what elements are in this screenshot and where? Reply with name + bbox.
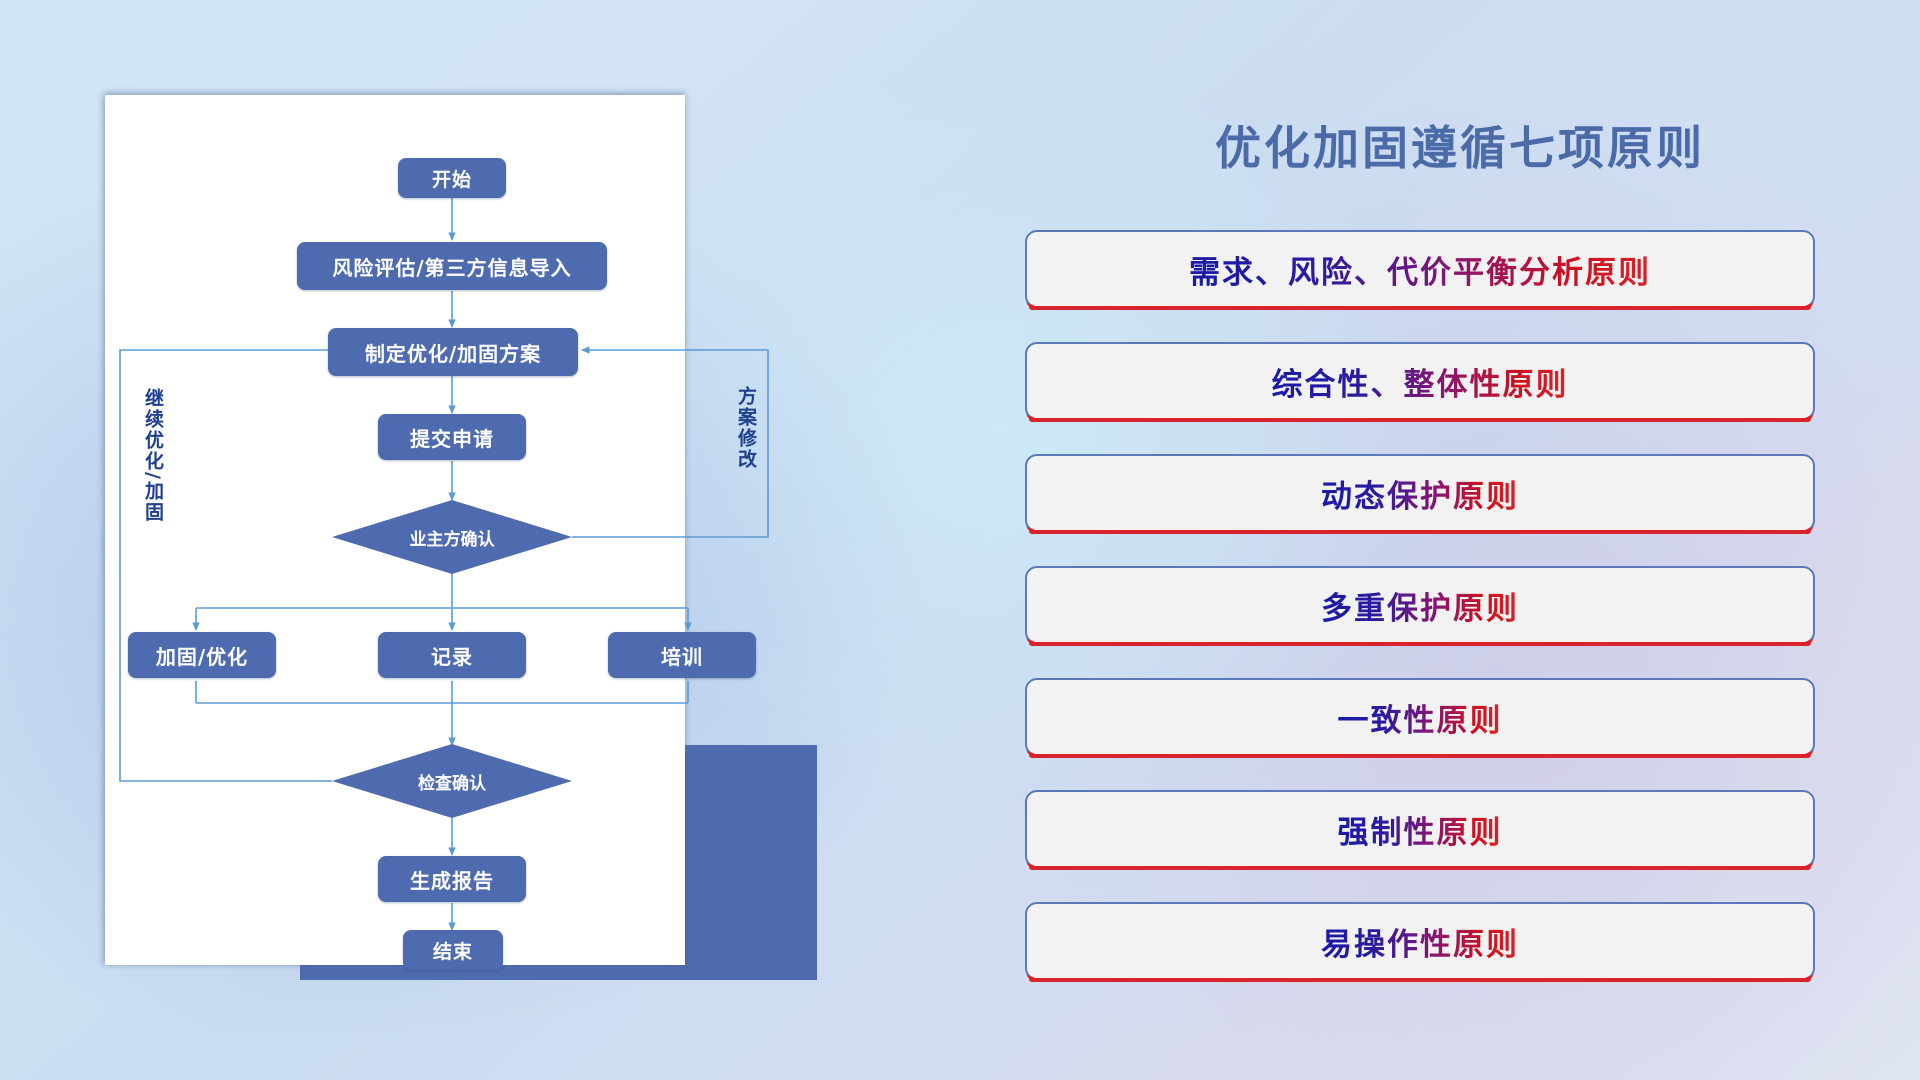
principle-label: 多重保护原则 (1321, 583, 1519, 628)
flow-node-label: 业主方确认 (410, 525, 495, 550)
principle-label: 需求、风险、代价平衡分析原则 (1189, 247, 1651, 292)
principle-label: 一致性原则 (1338, 695, 1503, 740)
principle-label: 综合性、整体性原则 (1272, 359, 1569, 404)
principles-list: 需求、风险、代价平衡分析原则 综合性、整体性原则 动态保护原则 多重保护原则 一… (1025, 230, 1815, 1014)
flow-node-record[interactable]: 记录 (378, 632, 526, 678)
flow-node-label: 记录 (431, 641, 473, 670)
principles-title: 优化加固遵循七项原则 (1000, 112, 1920, 178)
flow-node-reinforce-optimize[interactable]: 加固/优化 (128, 632, 276, 678)
edge-label-plan-revision: 方案修改 (733, 386, 760, 470)
flow-node-plan[interactable]: 制定优化/加固方案 (328, 328, 578, 376)
flow-node-risk-assessment[interactable]: 风险评估/第三方信息导入 (297, 242, 607, 290)
principle-item[interactable]: 多重保护原则 (1025, 566, 1815, 644)
principle-label: 动态保护原则 (1321, 471, 1519, 516)
flow-node-label: 开始 (432, 165, 472, 192)
principle-item[interactable]: 强制性原则 (1025, 790, 1815, 868)
flow-node-training[interactable]: 培训 (608, 632, 756, 678)
principle-item[interactable]: 需求、风险、代价平衡分析原则 (1025, 230, 1815, 308)
flow-node-start[interactable]: 开始 (398, 158, 506, 198)
principle-item[interactable]: 综合性、整体性原则 (1025, 342, 1815, 420)
principle-item[interactable]: 动态保护原则 (1025, 454, 1815, 532)
principles-panel: 优化加固遵循七项原则 需求、风险、代价平衡分析原则 综合性、整体性原则 动态保护… (1000, 0, 1920, 1080)
flow-node-label: 培训 (661, 641, 703, 670)
flow-node-end[interactable]: 结束 (403, 930, 503, 970)
flow-node-label: 生成报告 (410, 865, 494, 894)
principle-item[interactable]: 易操作性原则 (1025, 902, 1815, 980)
flow-node-generate-report[interactable]: 生成报告 (378, 856, 526, 902)
flow-node-label: 制定优化/加固方案 (365, 338, 541, 367)
flow-node-label: 结束 (433, 937, 473, 964)
principle-label: 强制性原则 (1338, 807, 1503, 852)
flowchart-panel: 开始 风险评估/第三方信息导入 制定优化/加固方案 提交申请 业主方确认 加固/… (0, 0, 860, 1080)
principle-label: 易操作性原则 (1321, 919, 1519, 964)
flow-node-label: 提交申请 (410, 423, 494, 452)
edge-label-continue-optimize: 继续优化/加固 (140, 388, 167, 523)
flow-node-label: 检查确认 (418, 769, 486, 794)
principle-item[interactable]: 一致性原则 (1025, 678, 1815, 756)
flow-node-label: 加固/优化 (156, 641, 248, 670)
flow-node-submit-application[interactable]: 提交申请 (378, 414, 526, 460)
flow-node-label: 风险评估/第三方信息导入 (332, 252, 571, 281)
